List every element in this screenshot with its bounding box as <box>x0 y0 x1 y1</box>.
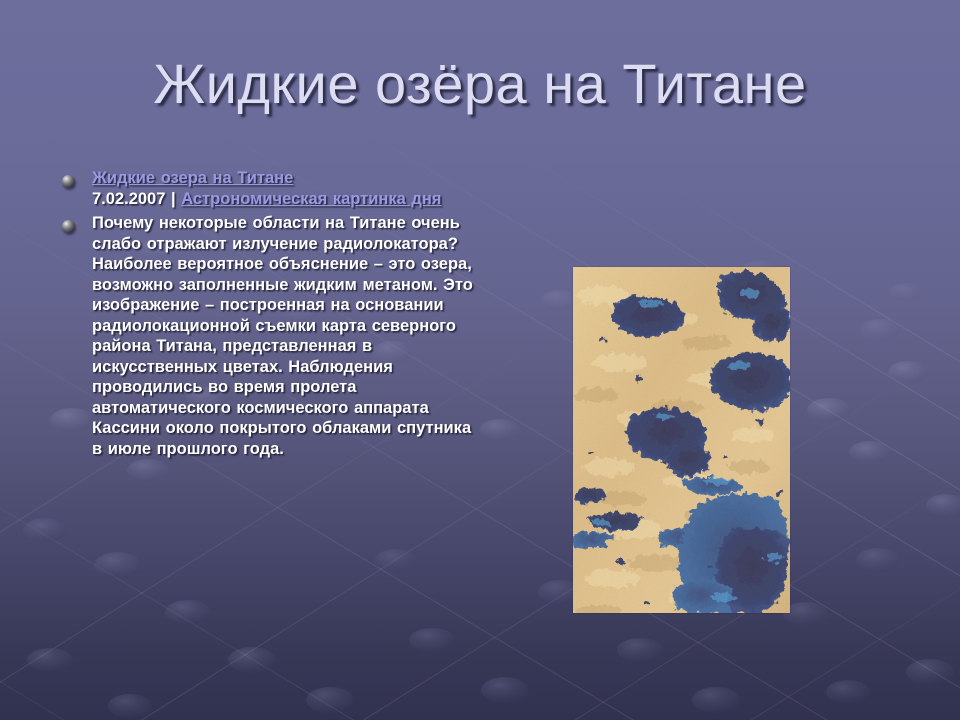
sphere-bullet-icon <box>62 175 75 188</box>
link-astronomy-picture-of-the-day[interactable]: Астрономическая картинка дня <box>181 190 441 208</box>
slide-title: Жидкие озёра на Титане <box>0 52 960 116</box>
slide-body: Жидкие озера на Титане7.02.2007 | Астрон… <box>58 168 478 463</box>
presentation-slide: Жидкие озёра на Титане Жидкие озера на Т… <box>0 0 960 720</box>
titan-radar-image[interactable] <box>573 267 790 613</box>
bullet-text-block: Жидкие озера на Титане7.02.2007 | Астрон… <box>92 168 478 209</box>
bullet-item-link: Жидкие озера на Титане7.02.2007 | Астрон… <box>58 168 478 209</box>
bullet-item-description: Почему некоторые области на Титане очень… <box>58 213 478 459</box>
bullet-date-text: 7.02.2007 | <box>92 190 181 208</box>
bullet-description-text: Почему некоторые области на Титане очень… <box>92 213 478 459</box>
link-titan-lakes[interactable]: Жидкие озера на Титане <box>92 169 293 187</box>
sphere-bullet-icon <box>62 220 75 233</box>
